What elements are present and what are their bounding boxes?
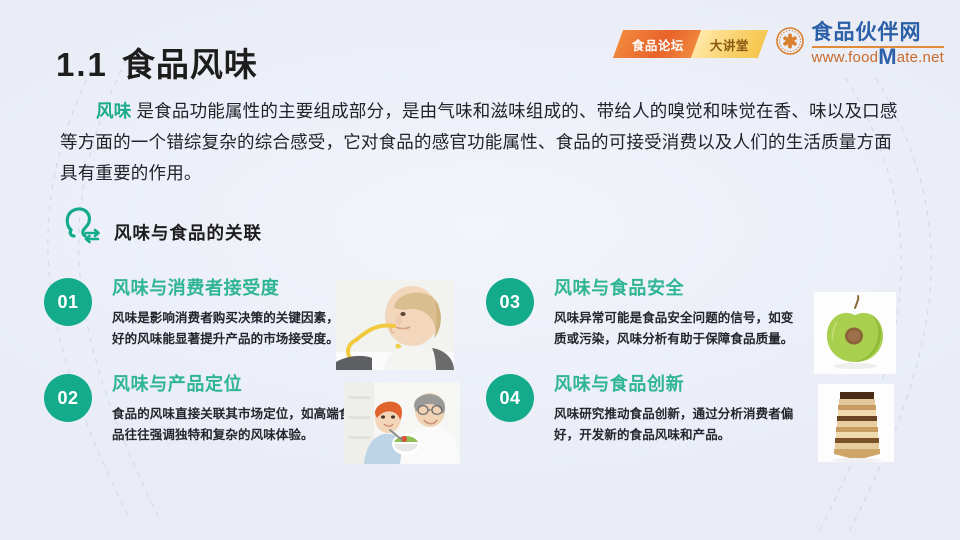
flower-badge-icon xyxy=(775,26,805,61)
page-title-text: 食品风味 xyxy=(122,46,258,83)
card-03-badge: 03 xyxy=(486,278,534,326)
tag-lecture-hall[interactable]: 大讲堂 xyxy=(690,30,767,58)
card-03[interactable]: 03 风味与食品安全 风味异常可能是食品安全问题的信号，如变质或污染，风味分析有… xyxy=(486,272,916,350)
card-01-text: 风味是影响消费者购买决策的关键因素，良好的风味能显著提升产品的市场接受度。 xyxy=(112,308,352,350)
card-03-text: 风味异常可能是食品安全问题的信号，如变质或污染，风味分析有助于保障食品质量。 xyxy=(554,308,794,350)
brand-header: 食品论坛 大讲堂 食品伙伴网 www.foodMate.net xyxy=(618,22,944,65)
section-heading: 风味与食品的关联 xyxy=(58,200,262,251)
elderly-couple-eating-photo xyxy=(344,382,460,464)
wafer-stack-photo xyxy=(818,384,894,462)
cards-column-left: 01 风味与消费者接受度 风味是影响消费者购买决策的关键因素，良好的风味能显著提… xyxy=(44,272,474,446)
intro-paragraph: 风味 是食品功能属性的主要组成部分，是由气味和滋味组成的、带给人的嗅觉和味觉在香… xyxy=(60,96,905,189)
brand-url: www.foodMate.net xyxy=(812,50,944,65)
page-title: 1.1食品风味 xyxy=(56,38,258,86)
brand-logo[interactable]: 食品伙伴网 www.foodMate.net xyxy=(775,22,944,65)
intro-highlight: 风味 xyxy=(96,101,131,121)
cards-column-right: 03 风味与食品安全 风味异常可能是食品安全问题的信号，如变质或污染，风味分析有… xyxy=(486,272,916,446)
card-01-badge: 01 xyxy=(44,278,92,326)
brand-url-suffix: ate.net xyxy=(897,50,944,65)
tag-lecture-hall-label: 大讲堂 xyxy=(710,34,749,53)
card-02-text: 食品的风味直接关联其市场定位，如高端食品往往强调独特和复杂的风味体验。 xyxy=(112,404,352,446)
card-02-badge: 02 xyxy=(44,374,92,422)
baby-eating-photo xyxy=(336,280,454,370)
green-apple-photo xyxy=(814,292,896,374)
card-04[interactable]: 04 风味与食品创新 风味研究推动食品创新，通过分析消费者偏好，开发新的食品风味… xyxy=(486,368,916,446)
header-tags: 食品论坛 大讲堂 xyxy=(618,30,763,58)
section-heading-label: 风味与食品的关联 xyxy=(114,220,262,251)
person-exchange-icon xyxy=(58,200,104,251)
brand-url-prefix: www.food xyxy=(812,50,879,65)
tag-food-forum[interactable]: 食品论坛 xyxy=(612,30,702,58)
brand-name-cn: 食品伙伴网 xyxy=(812,22,944,45)
intro-body: 是食品功能属性的主要组成部分，是由气味和滋味组成的、带给人的嗅觉和味觉在香、味以… xyxy=(60,101,898,183)
card-02[interactable]: 02 风味与产品定位 食品的风味直接关联其市场定位，如高端食品往往强调独特和复杂… xyxy=(44,368,474,446)
brand-text: 食品伙伴网 www.foodMate.net xyxy=(812,22,944,65)
card-04-text: 风味研究推动食品创新，通过分析消费者偏好，开发新的食品风味和产品。 xyxy=(554,404,794,446)
tag-food-forum-label: 食品论坛 xyxy=(632,34,684,53)
card-04-badge: 04 xyxy=(486,374,534,422)
card-01[interactable]: 01 风味与消费者接受度 风味是影响消费者购买决策的关键因素，良好的风味能显著提… xyxy=(44,272,474,350)
page-title-number: 1.1 xyxy=(56,46,108,83)
